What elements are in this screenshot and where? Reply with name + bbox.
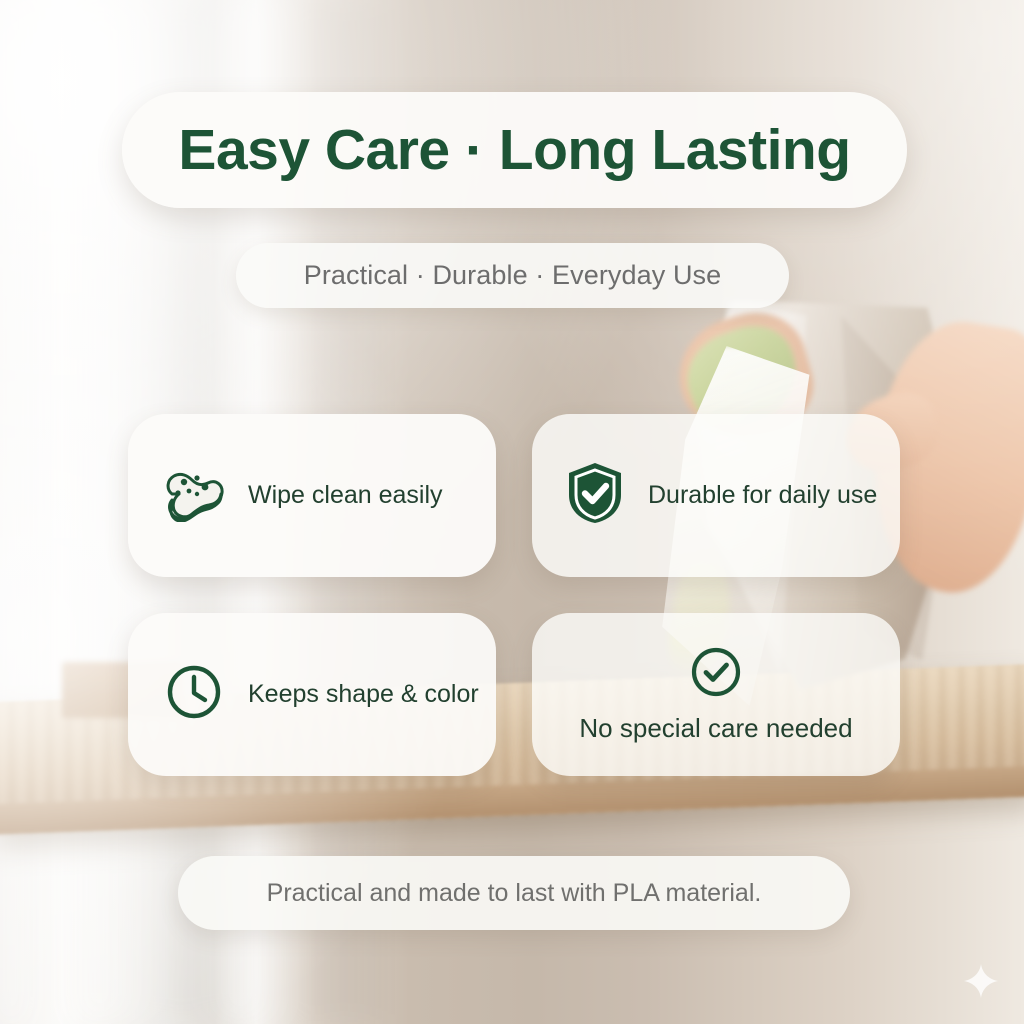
- subtitle-pill: Practical · Durable · Everyday Use: [236, 243, 789, 308]
- feature-card-keeps-shape[interactable]: Keeps shape & color: [128, 613, 496, 776]
- footer-text: Practical and made to last with PLA mate…: [267, 879, 762, 908]
- feature-label: Wipe clean easily: [248, 481, 443, 510]
- sparkle-icon: [964, 964, 998, 998]
- feature-card-wipe-clean[interactable]: Wipe clean easily: [128, 414, 496, 577]
- check-circle-icon: [690, 646, 742, 703]
- feature-card-durable[interactable]: Durable for daily use: [532, 414, 900, 577]
- page-title: Easy Care · Long Lasting: [178, 117, 850, 183]
- feature-label: Durable for daily use: [648, 481, 877, 510]
- poster-canvas: Easy Care · Long Lasting Practical · Dur…: [0, 0, 1024, 1024]
- feature-card-no-special-care[interactable]: No special care needed: [532, 613, 900, 776]
- feature-label: No special care needed: [579, 713, 852, 744]
- footer-pill: Practical and made to last with PLA mate…: [178, 856, 850, 930]
- feature-label: Keeps shape & color: [248, 680, 479, 709]
- feature-grid: Wipe clean easily Durable for daily use: [128, 414, 900, 776]
- shield-check-icon: [566, 461, 624, 530]
- title-pill: Easy Care · Long Lasting: [122, 92, 907, 208]
- page-subtitle: Practical · Durable · Everyday Use: [304, 260, 722, 291]
- clock-icon: [166, 664, 222, 725]
- sponge-icon: [162, 464, 224, 527]
- poster-content: Easy Care · Long Lasting Practical · Dur…: [0, 0, 1024, 1024]
